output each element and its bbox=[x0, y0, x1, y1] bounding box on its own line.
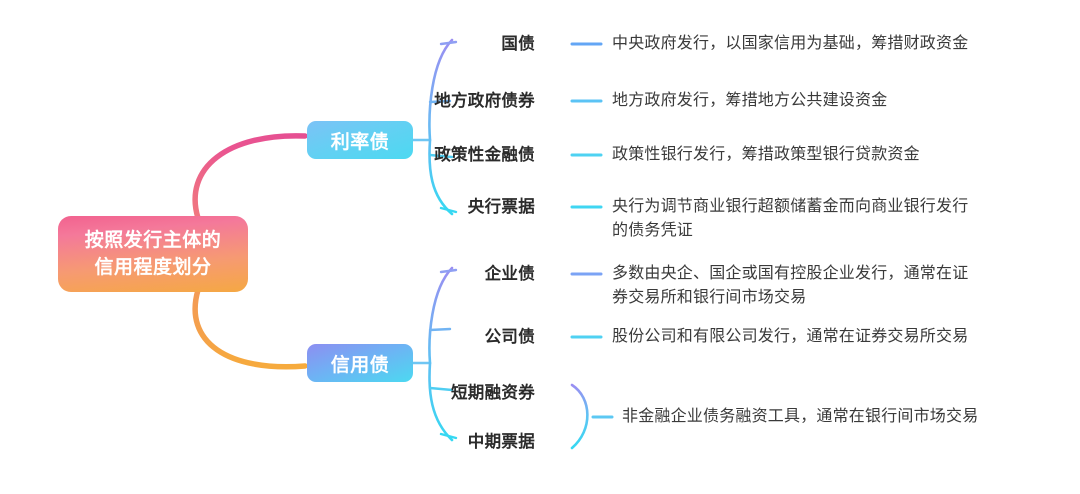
root-title-line-1: 按照发行主体的 bbox=[85, 227, 222, 254]
leaf-label-central-bank-bill[interactable]: 央行票据 bbox=[410, 195, 535, 219]
branch-curve-rate bbox=[195, 136, 305, 218]
branch-label-rate-bonds: 利率债 bbox=[331, 127, 390, 154]
leaf-label-local-government-bond[interactable]: 地方政府债券 bbox=[410, 89, 535, 113]
description-government-bond: 中央政府发行，以国家信用为基础，筹措财政资金 bbox=[612, 32, 968, 56]
description-local-government-bond: 地方政府发行，筹措地方公共建设资金 bbox=[612, 89, 887, 113]
bracket-merge-pair bbox=[572, 385, 587, 448]
leaf-label-corporate-bond[interactable]: 公司债 bbox=[410, 325, 535, 349]
description-corporate-bond: 股份公司和有限公司发行，通常在证券交易所交易 bbox=[612, 325, 968, 349]
leaf-label-government-bond[interactable]: 国债 bbox=[410, 32, 535, 56]
leaf-label-policy-financial-bond[interactable]: 政策性金融债 bbox=[410, 143, 535, 167]
root-title-line-2: 信用程度划分 bbox=[94, 254, 211, 281]
description-short-term-and-medium-term: 非金融企业债务融资工具，通常在银行间市场交易 bbox=[622, 405, 978, 429]
description-enterprise-bond: 多数由央企、国企或国有控股企业发行，通常在证 券交易所和银行间市场交易 bbox=[612, 262, 968, 310]
branch-label-credit-bonds: 信用债 bbox=[331, 350, 390, 377]
root-node[interactable]: 按照发行主体的 信用程度划分 bbox=[58, 216, 248, 292]
branch-node-credit-bonds[interactable]: 信用债 bbox=[307, 344, 413, 382]
bracket-rate bbox=[429, 40, 452, 214]
description-central-bank-bill: 央行为调节商业银行超额储蓄金而向商业银行发行 的债务凭证 bbox=[612, 195, 968, 243]
leaf-label-medium-term-note[interactable]: 中期票据 bbox=[410, 430, 535, 454]
branch-node-rate-bonds[interactable]: 利率债 bbox=[307, 121, 413, 159]
branch-curve-credit bbox=[195, 290, 305, 367]
leaf-label-enterprise-bond[interactable]: 企业债 bbox=[410, 262, 535, 286]
description-policy-financial-bond: 政策性银行发行，筹措政策型银行贷款资金 bbox=[612, 143, 920, 167]
leaf-label-short-term-financing-bill[interactable]: 短期融资券 bbox=[410, 381, 535, 405]
mindmap-canvas: 按照发行主体的 信用程度划分 利率债 信用债 国债 地方政府债券 政策性金融债 … bbox=[0, 0, 1080, 494]
bracket-credit bbox=[429, 268, 452, 440]
